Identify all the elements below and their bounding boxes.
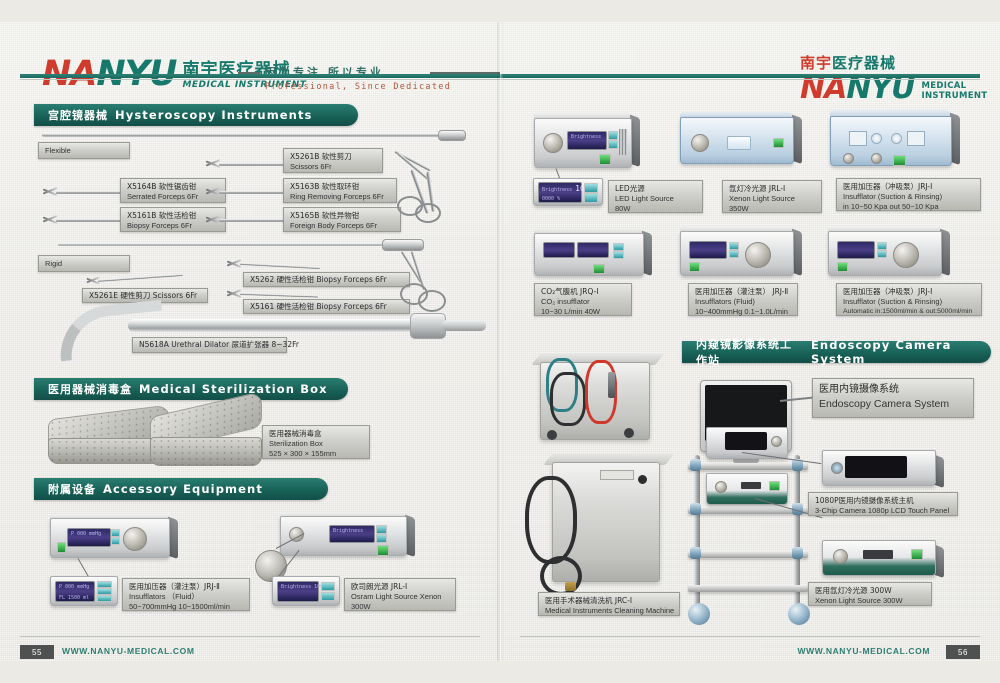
device-button-cyan[interactable] <box>111 537 120 545</box>
section-banner-sterilization: 医用器械消毒盒 Medical Sterilization Box <box>34 378 348 400</box>
section-banner-camera-cn: 内窥镜影像系统工作站 <box>696 336 804 368</box>
page-top-margin <box>0 0 1000 22</box>
device-button-cyan[interactable] <box>613 251 624 259</box>
brightness-label: Brightness <box>571 134 601 140</box>
hose-grey <box>550 372 586 426</box>
brand-sub-line2: INSTRUMENT <box>922 91 988 101</box>
device-panel-osram-closeup: Brightness 100 <box>272 578 338 606</box>
cart-post-right <box>794 455 800 605</box>
device-button-cyan[interactable] <box>97 581 112 588</box>
device-insufflator-suction <box>830 110 950 166</box>
instrument-shaft <box>219 163 289 166</box>
instrument-shaft <box>98 274 183 282</box>
machine-caster <box>547 430 557 440</box>
section-banner-accessory-en: Accessory Equipment <box>103 482 263 496</box>
device-front-panel <box>706 473 788 505</box>
rigid-scope-shaft <box>58 243 388 246</box>
dilator-tail <box>442 320 486 331</box>
plate-co2-en: CO₂ insufflator <box>541 297 625 307</box>
plate-xenon-cn: 氙灯冷光源 JRL-Ⅰ <box>729 184 815 194</box>
plate-osram-cn: 欧司朗光源 JRL-Ⅰ <box>351 582 449 592</box>
page-bottom-margin <box>0 661 1000 683</box>
catalog-page: NANYU 南宇医疗器械 MEDICAL INSTRUMENT 因为专注 所以专… <box>0 0 1000 683</box>
flexible-scope-tip <box>438 130 466 141</box>
device-insufflator-fluid: P 000 mmHg <box>50 514 168 558</box>
device-power-button[interactable] <box>769 481 780 491</box>
device-button-cyan[interactable] <box>613 243 624 251</box>
device-power-button[interactable] <box>773 138 784 148</box>
plate-x5163b: X5163B 软性取环钳 Ring Removing Forceps 6Fr <box>283 178 397 203</box>
device-front-panel <box>680 117 794 164</box>
plate-x5165b-en: Foreign Body Forceps 6Fr <box>290 221 394 231</box>
device-display: P 000 mmHg <box>67 528 111 547</box>
plate-insuff-auto-cn: 医用加压器（冲吸泵）JRJ-Ⅰ <box>843 287 975 297</box>
cart-caster <box>788 603 810 625</box>
plate-n5618a: N5618A Urethral Dilator 尿道扩张器 8~32Fr <box>132 337 287 353</box>
device-power-button[interactable] <box>593 264 605 274</box>
dilator-body <box>128 319 418 332</box>
plate-insuff-fluid-cn: 医用加压器（灌注泵） JRJ-Ⅱ <box>695 287 791 297</box>
plate-insuff-suction-en: Insufflator (Suction & Rinsing) <box>843 192 974 202</box>
plate-camera-cn: 医用内镜摄像系统 <box>819 382 967 397</box>
instrument-shaft <box>219 219 291 222</box>
plate-insuff-suction-cn: 医用加压器（冲吸泵）JRJ-Ⅰ <box>843 182 974 192</box>
device-indicator <box>871 133 882 144</box>
cart-post-left <box>694 455 700 605</box>
machine-indicator <box>638 475 647 484</box>
instrument-shaft <box>240 293 318 298</box>
plate-co2-spec: 10~30 L/min 40W <box>541 307 625 317</box>
plate-insufflator-auto-jrj1: 医用加压器（冲吸泵）JRJ-Ⅰ Insufflator (Suction & R… <box>836 283 982 316</box>
device-power-button[interactable] <box>893 155 906 166</box>
device-display-brightness: Brightness 100 <box>539 183 581 196</box>
plate-led-cn: LED光源 <box>615 184 696 194</box>
device-light-port <box>691 134 709 152</box>
device-button-cyan[interactable] <box>608 140 618 149</box>
plate-x5261b-cn: X5261B 软性剪刀 <box>290 152 376 162</box>
cart-device-camera-host <box>706 429 786 459</box>
device-display-line1: P 000 mmHg <box>68 529 110 540</box>
hose-black-long <box>525 476 577 564</box>
device-button-cyan[interactable] <box>608 131 618 140</box>
group-label-rigid-text: Rigid <box>45 259 123 269</box>
instrument-shaft <box>56 191 128 194</box>
cart-joint <box>690 459 701 471</box>
cart-joint <box>792 547 803 559</box>
group-label-flexible-text: Flexible <box>45 146 123 156</box>
footer-rule-left <box>20 636 480 637</box>
device-port <box>871 153 882 164</box>
device-button-cyan[interactable] <box>97 595 112 602</box>
plate-osram-spec: 300W <box>351 602 449 612</box>
plate-endoscopy-camera-system: 医用内镜摄像系统 Endoscopy Camera System <box>812 378 974 418</box>
brand-logo-right: 南宇医疗器械 NANYU MEDICAL INSTRUMENT <box>800 52 987 104</box>
footer-rule-right <box>520 636 980 637</box>
brand-sub-en-right: MEDICAL INSTRUMENT <box>922 81 988 101</box>
device-light-port <box>833 549 848 564</box>
device-button-cyan[interactable] <box>877 250 887 258</box>
endoscopy-cart <box>688 455 812 625</box>
rigid-scope-tip <box>382 239 424 251</box>
plate-insuff-fluid-spec: 10~400mmHg 0.1~1.0L/min <box>695 307 791 317</box>
plate-xenon-en: Xenon Light Source <box>729 194 815 204</box>
plate-insufflator-spec: 50~700mmHg 10~1500ml/min <box>129 602 243 612</box>
cart-device-light-source <box>706 475 786 505</box>
page-gutter <box>497 22 503 661</box>
device-insufflator-fluid-jrj2 <box>680 226 792 276</box>
plate-xenon-300w: 医用氙灯冷光源 300W Xenon Light Source 300W <box>808 582 932 606</box>
cart-joint <box>690 503 701 515</box>
device-front-panel <box>822 540 936 576</box>
plate-xenon300-cn: 医用氙灯冷光源 300W <box>815 586 925 596</box>
device-display: Brightness <box>329 525 375 543</box>
device-button-cyan[interactable] <box>321 582 335 591</box>
device-front-panel: Brightness 100 0000 % <box>533 178 603 206</box>
machine-label-plate <box>600 470 634 480</box>
device-gauge <box>907 131 925 146</box>
device-button-cyan[interactable] <box>729 242 739 250</box>
device-front-panel <box>822 450 936 486</box>
device-display: Brightness <box>567 131 607 150</box>
instrument-shaft <box>240 263 320 269</box>
device-xenon-300w <box>822 542 934 576</box>
cart-shelf <box>688 463 808 470</box>
device-button-cyan[interactable] <box>97 588 112 595</box>
device-display-brightness: Brightness <box>568 132 606 143</box>
plate-host-en: 3-Chip Camera 1080p LCD Touch Panel <box>815 506 951 516</box>
plate-co2-insufflator-jrq1: CO₂气腹机 JRQ-Ⅰ CO₂ insufflator 10~30 L/min… <box>534 283 632 316</box>
tagline-en: Professional, Since Dedicated <box>265 82 495 92</box>
machine-caster <box>624 428 634 438</box>
section-banner-hysteroscopy: 宫腔镜器械 Hysteroscopy Instruments <box>34 104 358 126</box>
brightness-label: Brightness <box>281 584 311 590</box>
device-button-cyan[interactable] <box>877 242 887 250</box>
plate-xenon300-en: Xenon Light Source 300W <box>815 596 925 606</box>
device-panel-led-closeup: Brightness 100 0000 % <box>533 180 601 206</box>
device-button-cyan[interactable] <box>584 193 598 203</box>
device-display-label: Brightness <box>330 526 374 537</box>
device-co2-insufflator <box>534 228 642 276</box>
plate-xenon-light-jrl1: 氙灯冷光源 JRL-Ⅰ Xenon Light Source 350W <box>722 180 822 213</box>
device-display: Brightness 100 <box>277 581 319 602</box>
device-display-line1: P 000 mmHg <box>56 582 94 593</box>
plate-x5261b: X5261B 软性剪刀 Scissors 6Fr <box>283 148 383 173</box>
plate-x5165b: X5165B 软性异物钳 Foreign Body Forceps 6Fr <box>283 207 401 232</box>
brand-name-cn-right: 南宇医疗器械 <box>800 52 987 73</box>
plate-led-light-source: LED光源 LED Light Source 80W <box>608 180 703 213</box>
plate-camera-host-1080p: 1080P医用内镜摄像系统主机 3-Chip Camera 1080p LCD … <box>808 492 958 516</box>
device-front-panel <box>534 233 644 276</box>
footer-url-left[interactable]: WWW.NANYU-MEDICAL.COM <box>62 646 195 656</box>
device-front-panel <box>828 231 942 276</box>
plate-sterilization-box-en: Sterilization Box <box>269 439 363 449</box>
device-light-port <box>543 133 563 153</box>
plate-osram-en: Osram Light Source Xenon <box>351 592 449 602</box>
page-number-right: 56 <box>946 645 980 659</box>
instrument-shaft <box>219 191 291 194</box>
device-front-panel: Brightness 100 <box>272 576 340 606</box>
plate-insufflator-en: Insufflators （Fluid） <box>129 592 243 602</box>
brand-sub-line1: MEDICAL <box>922 81 988 91</box>
device-display-brightness: Brightness 100 <box>278 582 318 593</box>
device-xenon-light-source <box>680 112 792 164</box>
plate-insufflator-cn: 医用加压器（灌注泵）JRJ-Ⅱ <box>129 582 243 592</box>
device-button-cyan[interactable] <box>321 592 335 601</box>
group-label-flexible: Flexible <box>38 142 130 159</box>
device-button-cyan[interactable] <box>584 183 598 193</box>
sterilization-box-open <box>150 408 260 466</box>
plate-x5262-text: X5262 硬性活检钳 Biopsy Forceps 6Fr <box>250 275 387 285</box>
plate-xenon-spec: 350W <box>729 204 815 214</box>
device-front-panel: P 000 mmHg <box>50 518 170 558</box>
plate-insuff-suction-spec: in 10~50 Kpa out 50~10 Kpa <box>843 202 974 212</box>
instrument-shaft <box>56 219 128 222</box>
device-front-panel: P 000 mmHg FL 1500 ml <box>50 576 118 606</box>
page-number-left: 55 <box>20 645 54 659</box>
device-port <box>843 153 854 164</box>
device-front-panel: Brightness <box>534 118 632 168</box>
device-button-cyan[interactable] <box>111 529 120 537</box>
hose-brass-fitting <box>565 582 576 591</box>
section-banner-accessory: 附属设备 Accessory Equipment <box>34 478 328 500</box>
device-knob[interactable] <box>771 436 782 447</box>
forceps-ring <box>415 203 441 223</box>
plate-insufflators-fluid-jrj2: 医用加压器（灌注泵） JRJ-Ⅱ Insufflators (Fluid) 10… <box>688 283 798 316</box>
plate-x5163b-cn: X5163B 软性取环钳 <box>290 182 390 192</box>
device-keypad[interactable] <box>727 136 751 150</box>
brightness-label: Brightness <box>542 187 572 193</box>
plate-osram-light-jrl1: 欧司朗光源 JRL-Ⅰ Osram Light Source Xenon 300… <box>344 578 456 611</box>
device-button-cyan[interactable] <box>376 525 387 534</box>
plate-camera-en: Endoscopy Camera System <box>819 397 967 412</box>
device-power-button[interactable] <box>837 262 848 272</box>
device-camera-host-1080p <box>822 452 934 486</box>
plate-x5261e-text: X5261E 硬性剪刀 Scissors 6Fr <box>89 291 197 301</box>
device-display <box>863 550 893 559</box>
section-banner-hysteroscopy-en: Hysteroscopy Instruments <box>115 108 313 122</box>
device-touch-panel[interactable] <box>845 456 907 478</box>
section-banner-hysteroscopy-cn: 宫腔镜器械 <box>48 107 108 123</box>
device-display <box>689 241 727 259</box>
brand-tagline: 因为专注 所以专业 Professional, Since Dedicated <box>265 64 495 92</box>
device-insufflator-auto-jrj1 <box>828 226 940 276</box>
plate-cleaning-cn: 医用手术器械清洗机 JRC-Ⅰ <box>545 596 673 606</box>
plate-cleaning-machine-jrc1: 医用手术器械清洗机 JRC-Ⅰ Medical Instruments Clea… <box>538 592 680 616</box>
footer-url-right[interactable]: WWW.NANYU-MEDICAL.COM <box>797 646 930 656</box>
device-display: P 000 mmHg FL 1500 ml <box>55 581 95 602</box>
device-power-button[interactable] <box>599 154 611 165</box>
section-banner-camera-system: 内窥镜影像系统工作站 Endoscopy Camera System <box>682 341 991 363</box>
device-indicator <box>831 462 843 474</box>
plate-insuff-auto-spec: Automatic in:1500ml/min & out:5000ml/min <box>843 307 975 317</box>
device-led-light-source: Brightness <box>534 112 630 168</box>
device-display <box>741 482 761 489</box>
device-light-port <box>715 481 727 493</box>
device-power-button[interactable] <box>57 542 66 553</box>
cart-caster <box>688 603 710 625</box>
plate-cleaning-en: Medical Instruments Cleaning Machine <box>545 606 673 616</box>
device-power-button[interactable] <box>689 262 700 272</box>
brightness-sub: 0000 <box>542 196 554 202</box>
plate-led-spec: 80W <box>615 204 696 214</box>
section-banner-sterilization-cn: 医用器械消毒盒 <box>48 381 132 397</box>
device-display <box>725 432 767 450</box>
section-banner-camera-en: Endoscopy Camera System <box>811 338 991 366</box>
device-gauge <box>849 131 867 146</box>
device-display <box>577 242 609 258</box>
plate-co2-cn: CO₂气腹机 JRQ-Ⅰ <box>541 287 625 297</box>
plate-x5262: X5262 硬性活检钳 Biopsy Forceps 6Fr <box>243 272 410 287</box>
section-banner-sterilization-en: Medical Sterilization Box <box>139 382 328 396</box>
plate-x5165b-cn: X5165B 软性异物钳 <box>290 211 394 221</box>
plate-sterilization-box-cn: 医用器械消毒盒 <box>269 429 363 439</box>
plate-led-en: LED Light Source <box>615 194 696 204</box>
brightness-unit: % <box>557 196 560 202</box>
device-panel-insufflator-closeup: P 000 mmHg FL 1500 ml <box>50 578 116 606</box>
device-knob[interactable] <box>893 242 919 268</box>
plate-insufflator-suction-jrj1: 医用加压器（冲吸泵）JRJ-Ⅰ Insufflator (Suction & R… <box>836 178 981 211</box>
plate-insuff-fluid-en: Insufflators (Fluid) <box>695 297 791 307</box>
plate-insuff-auto-en: Insufflator (Suction & Rinsing) <box>843 297 975 307</box>
section-banner-accessory-cn: 附属设备 <box>48 481 96 497</box>
device-display <box>543 242 575 258</box>
spray-gun <box>608 372 615 398</box>
cart-shelf <box>688 551 808 558</box>
device-front-panel <box>680 231 794 276</box>
device-front-panel <box>706 427 788 459</box>
device-power-button[interactable] <box>377 545 389 556</box>
cart-joint <box>690 547 701 559</box>
plate-x5163b-en: Ring Removing Forceps 6Fr <box>290 192 390 202</box>
device-vent <box>619 129 627 155</box>
device-power-button[interactable] <box>911 549 923 560</box>
device-display-line2: FL 1500 ml <box>56 593 94 604</box>
device-knob[interactable] <box>745 242 771 268</box>
plate-insufflator-fluid-jrj2: 医用加压器（灌注泵）JRJ-Ⅱ Insufflators （Fluid） 50~… <box>122 578 250 611</box>
plate-x5261b-en: Scissors 6Fr <box>290 162 376 172</box>
device-indicator <box>891 133 902 144</box>
dilator-hub <box>410 313 446 339</box>
cart-shelf <box>688 585 808 592</box>
device-button-cyan[interactable] <box>729 250 739 258</box>
device-button-cyan[interactable] <box>376 534 387 543</box>
device-display <box>837 241 875 259</box>
flexible-scope-shaft <box>42 133 442 137</box>
device-display: Brightness 100 0000 % <box>538 182 582 203</box>
device-display-sub: 0000 % <box>539 196 581 205</box>
device-knob[interactable] <box>123 527 147 551</box>
plate-sterilization-box: 医用器械消毒盒 Sterilization Box 525 × 300 × 15… <box>262 425 370 459</box>
device-front-panel <box>830 116 952 166</box>
plate-host-cn: 1080P医用内镜摄像系统主机 <box>815 496 951 506</box>
plate-sterilization-box-dims: 525 × 300 × 155mm <box>269 449 363 459</box>
plate-n5618a-text: N5618A Urethral Dilator 尿道扩张器 8~32Fr <box>139 340 299 350</box>
sterilization-box-base <box>150 437 262 466</box>
group-label-rigid: Rigid <box>38 255 130 272</box>
